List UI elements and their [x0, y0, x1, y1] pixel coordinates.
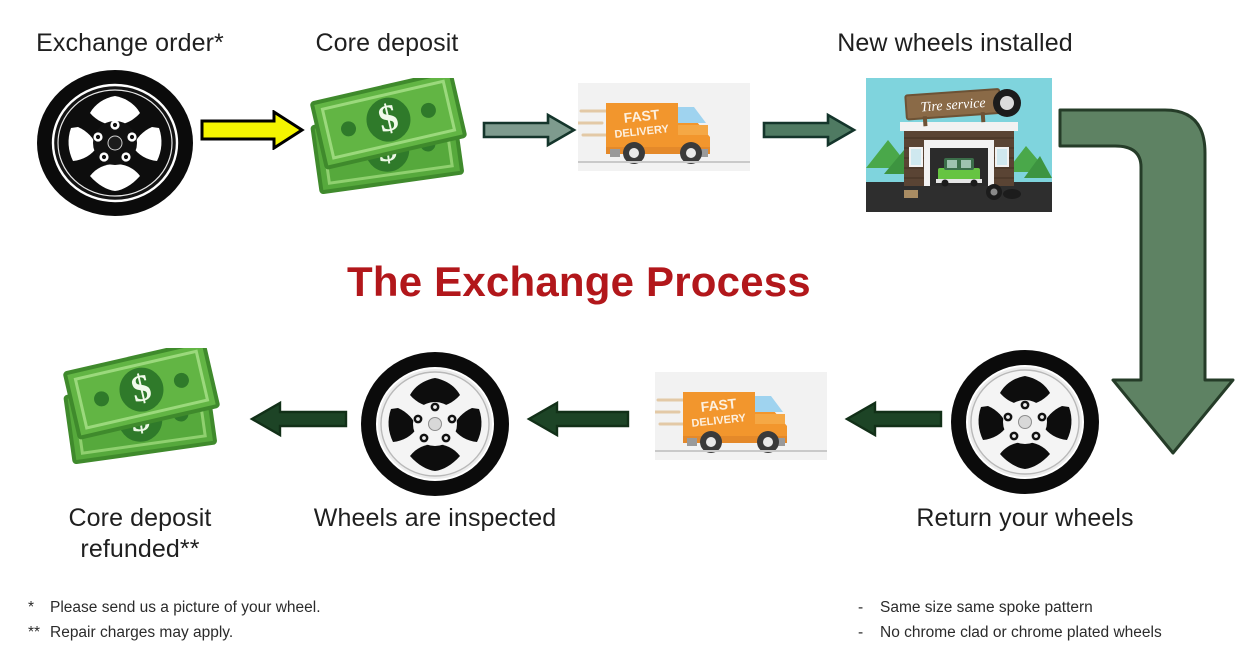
- footnote-right-2-marker: -: [858, 620, 880, 645]
- step-label-core-deposit-refunded: Core deposit refunded**: [25, 503, 255, 565]
- arrow-1-yellow: [200, 110, 305, 150]
- delivery-truck-icon-inbound: FAST DELIVERY: [655, 372, 827, 460]
- tire-service-shop-icon: Tire service: [866, 78, 1052, 212]
- footnote-right-2-text: No chrome clad or chrome plated wheels: [880, 624, 1162, 641]
- money-icon-refund: $ $: [58, 348, 233, 473]
- footnote-right-2: -No chrome clad or chrome plated wheels: [858, 620, 1162, 645]
- step-label-new-wheels-installed: New wheels installed: [800, 28, 1110, 59]
- footnote-left-1: *Please send us a picture of your wheel.: [28, 595, 321, 620]
- footnote-right-1-marker: -: [858, 595, 880, 620]
- step-label-return-your-wheels: Return your wheels: [895, 503, 1155, 534]
- arrow-5-dark-green-left: [525, 400, 630, 438]
- arrow-4-dark-green-left: [843, 400, 943, 438]
- footnote-right-1-text: Same size same spoke pattern: [880, 599, 1093, 616]
- exchange-process-diagram: Exchange order*: [0, 0, 1250, 666]
- footnote-right-1: -Same size same spoke pattern: [858, 595, 1093, 620]
- footnote-left-1-text: Please send us a picture of your wheel.: [50, 599, 321, 616]
- step-label-exchange-order: Exchange order*: [0, 28, 260, 59]
- arrow-6-dark-green-left: [248, 400, 348, 438]
- page-title: The Exchange Process: [347, 258, 811, 306]
- arrow-2-slate: [482, 112, 577, 148]
- arrow-3-green: [762, 112, 857, 148]
- money-icon: $ $: [305, 78, 480, 203]
- wheel-light-icon-inspected: [360, 350, 510, 498]
- step-label-core-deposit: Core deposit: [277, 28, 497, 59]
- delivery-truck-icon-outbound: FAST DELIVERY: [578, 83, 750, 171]
- wheel-dark-icon: [35, 68, 195, 218]
- footnote-left-1-marker: *: [28, 595, 50, 620]
- footnote-left-2-text: Repair charges may apply.: [50, 624, 233, 641]
- step-label-wheels-are-inspected: Wheels are inspected: [305, 503, 565, 534]
- footnote-left-2: **Repair charges may apply.: [28, 620, 233, 645]
- footnote-left-2-marker: **: [28, 620, 50, 645]
- wheel-light-icon-return: [950, 348, 1100, 496]
